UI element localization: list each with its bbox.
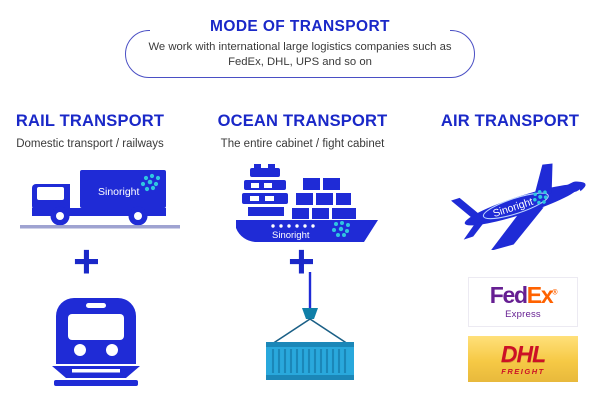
- train-icon: [44, 292, 148, 388]
- ocean-transport-title: OCEAN TRANSPORT: [205, 112, 400, 131]
- column-rail-transport: RAIL TRANSPORT Domestic transport / rail…: [0, 112, 180, 150]
- page-title: MODE OF TRANSPORT: [150, 18, 450, 36]
- fedex-logo: FedEx® Express: [468, 277, 578, 327]
- truck-icon: Sinoright: [20, 166, 180, 236]
- fedex-word-fed: Fed: [490, 282, 527, 308]
- fedex-word-ex: Ex: [527, 282, 553, 308]
- rail-plus-connector: +: [73, 238, 100, 284]
- column-air-transport: AIR TRANSPORT: [420, 112, 600, 131]
- shipping-container-crane-icon: [250, 272, 370, 387]
- fedex-wordmark: FedEx®: [490, 284, 556, 307]
- header-subtitle: We work with international large logisti…: [132, 40, 468, 70]
- dhl-logo: DHL FREIGHT: [468, 336, 578, 382]
- rail-transport-subtitle: Domestic transport / railways: [0, 138, 180, 150]
- dhl-tagline: FREIGHT: [501, 367, 544, 376]
- fedex-tagline: Express: [505, 309, 541, 320]
- ocean-transport-subtitle: The entire cabinet / fight cabinet: [205, 138, 400, 150]
- header-subtitle-line-2: FedEx, DHL, UPS and so on: [132, 55, 468, 70]
- airplane-icon: Sinoright: [450, 160, 600, 250]
- header-subtitle-line-1: We work with international large logisti…: [132, 40, 468, 55]
- truck-brand-label: Sinoright: [98, 186, 140, 198]
- fedex-registered-mark: ®: [552, 289, 556, 296]
- rail-transport-title: RAIL TRANSPORT: [0, 112, 180, 131]
- air-transport-title: AIR TRANSPORT: [420, 112, 600, 131]
- dhl-wordmark: DHL: [501, 343, 545, 366]
- infographic-canvas: MODE OF TRANSPORT We work with internati…: [0, 0, 600, 400]
- column-ocean-transport: OCEAN TRANSPORT The entire cabinet / fig…: [205, 112, 400, 150]
